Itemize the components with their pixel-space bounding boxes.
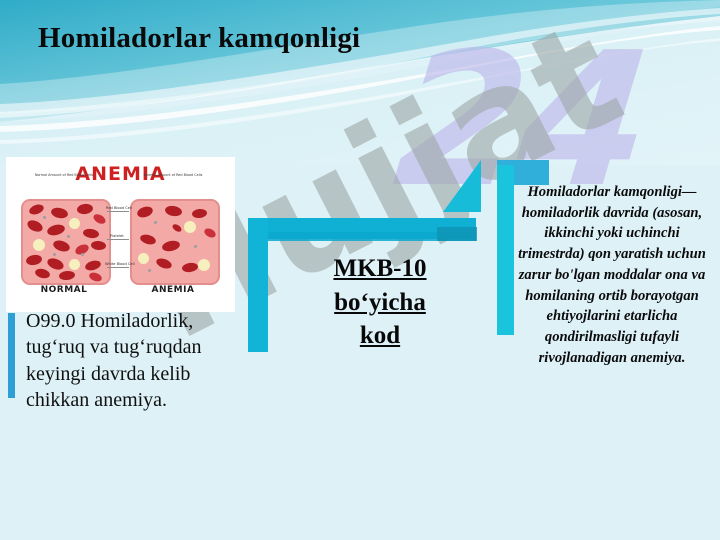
legend-red-blood-cell: Red Blood Cell	[106, 206, 132, 210]
anemia-blood-panel	[130, 199, 220, 285]
definition-text: Homiladorlar kamqonligi—homiladorlik dav…	[512, 182, 712, 368]
center-heading: MKB-10 bo‘yicha kod	[292, 252, 468, 353]
triangle-decoration	[443, 160, 481, 212]
bracket-left-vertical	[248, 218, 268, 352]
right-panel-caption: Anemic Amount of Red Blood Cells	[130, 173, 216, 177]
bracket-accent-dark	[437, 227, 477, 241]
left-panel-caption: Normal Amount of Red Blood Cells	[21, 173, 107, 177]
left-accent-bar	[8, 313, 15, 398]
page-title: Homiladorlar kamqonligi	[38, 22, 360, 55]
icd-code-description: O99.0 Homiladorlik, tug‘ruq va tug‘ruqda…	[26, 308, 248, 414]
legend-white-blood-cell: White Blood Cell	[105, 262, 135, 266]
normal-panel-label: NORMAL	[21, 285, 107, 295]
anemia-infographic: ANEMIA Normal Amount of Red Blood Cells …	[6, 157, 235, 312]
presentation-slide: 24 Hujjat Homiladorlar kamqonligi ANEMIA…	[0, 0, 720, 540]
center-heading-line1: MKB-10	[333, 255, 426, 282]
normal-blood-panel	[21, 199, 111, 285]
center-heading-line3: kod	[360, 322, 400, 349]
anemia-panel-label: ANEMIA	[130, 285, 216, 295]
center-heading-line2: bo‘yicha	[334, 289, 426, 316]
legend-platelet: Platelet	[110, 234, 124, 238]
